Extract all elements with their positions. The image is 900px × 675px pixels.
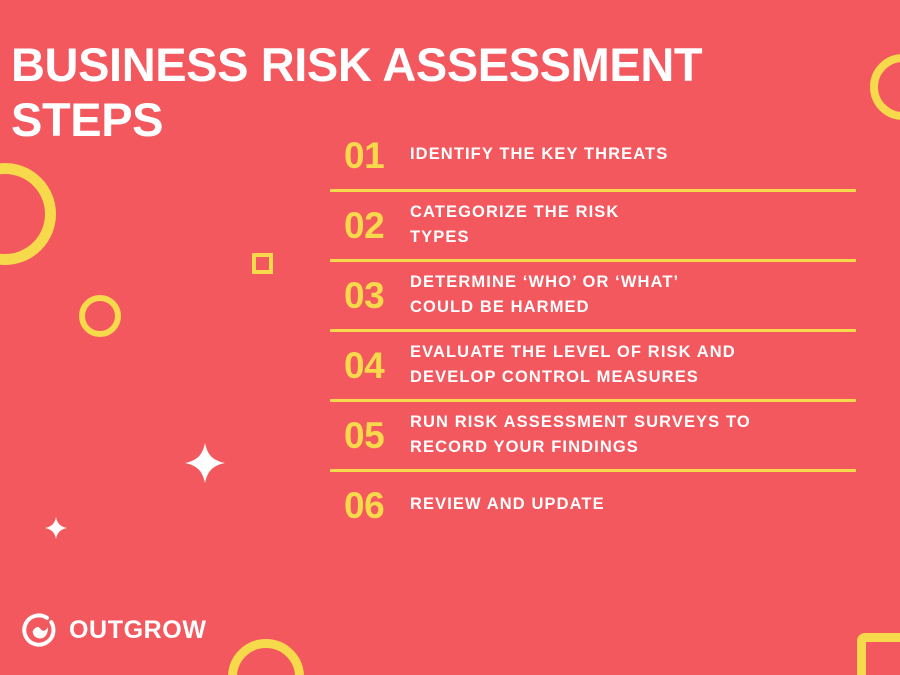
step-text: Categorize the risk types xyxy=(410,200,856,252)
step-number: 04 xyxy=(330,347,410,385)
step-row: 06 Review and update xyxy=(330,472,856,539)
outgrow-logo-icon xyxy=(22,612,58,648)
step-number: 02 xyxy=(330,207,410,245)
ring-top-right-shape xyxy=(870,54,900,120)
step-row: 03 Determine ‘who’ or ‘what’ could be ha… xyxy=(330,262,856,332)
step-text: Review and update xyxy=(410,492,856,519)
step-row: 04 Evaluate the level of risk and develo… xyxy=(330,332,856,402)
step-text: Run risk assessment surveys to record yo… xyxy=(410,410,856,462)
square-small-shape xyxy=(252,253,273,274)
step-number: 01 xyxy=(330,137,410,175)
sparkle-large-icon xyxy=(185,443,225,483)
step-text: Evaluate the level of risk and develop c… xyxy=(410,340,856,392)
step-row: 05 Run risk assessment surveys to record… xyxy=(330,402,856,472)
step-row: 02 Categorize the risk types xyxy=(330,192,856,262)
step-text: Determine ‘who’ or ‘what’ could be harme… xyxy=(410,270,856,322)
ring-bottom-shape xyxy=(228,639,304,675)
step-number: 06 xyxy=(330,487,410,525)
step-number: 05 xyxy=(330,417,410,455)
ring-left-large-shape xyxy=(0,163,56,265)
ring-left-medium-shape xyxy=(79,295,121,337)
brand-logo: Outgrow xyxy=(22,612,207,648)
brand-name: Outgrow xyxy=(69,616,207,644)
square-bottom-right-shape xyxy=(857,633,900,675)
step-text: Identify the key threats xyxy=(410,142,856,169)
sparkle-small-icon xyxy=(45,517,67,539)
steps-list: 01 Identify the key threats 02 Categoriz… xyxy=(330,122,856,539)
infographic-poster: Business Risk Assessment Steps 01 Identi… xyxy=(0,0,900,675)
step-row: 01 Identify the key threats xyxy=(330,122,856,192)
step-number: 03 xyxy=(330,277,410,315)
